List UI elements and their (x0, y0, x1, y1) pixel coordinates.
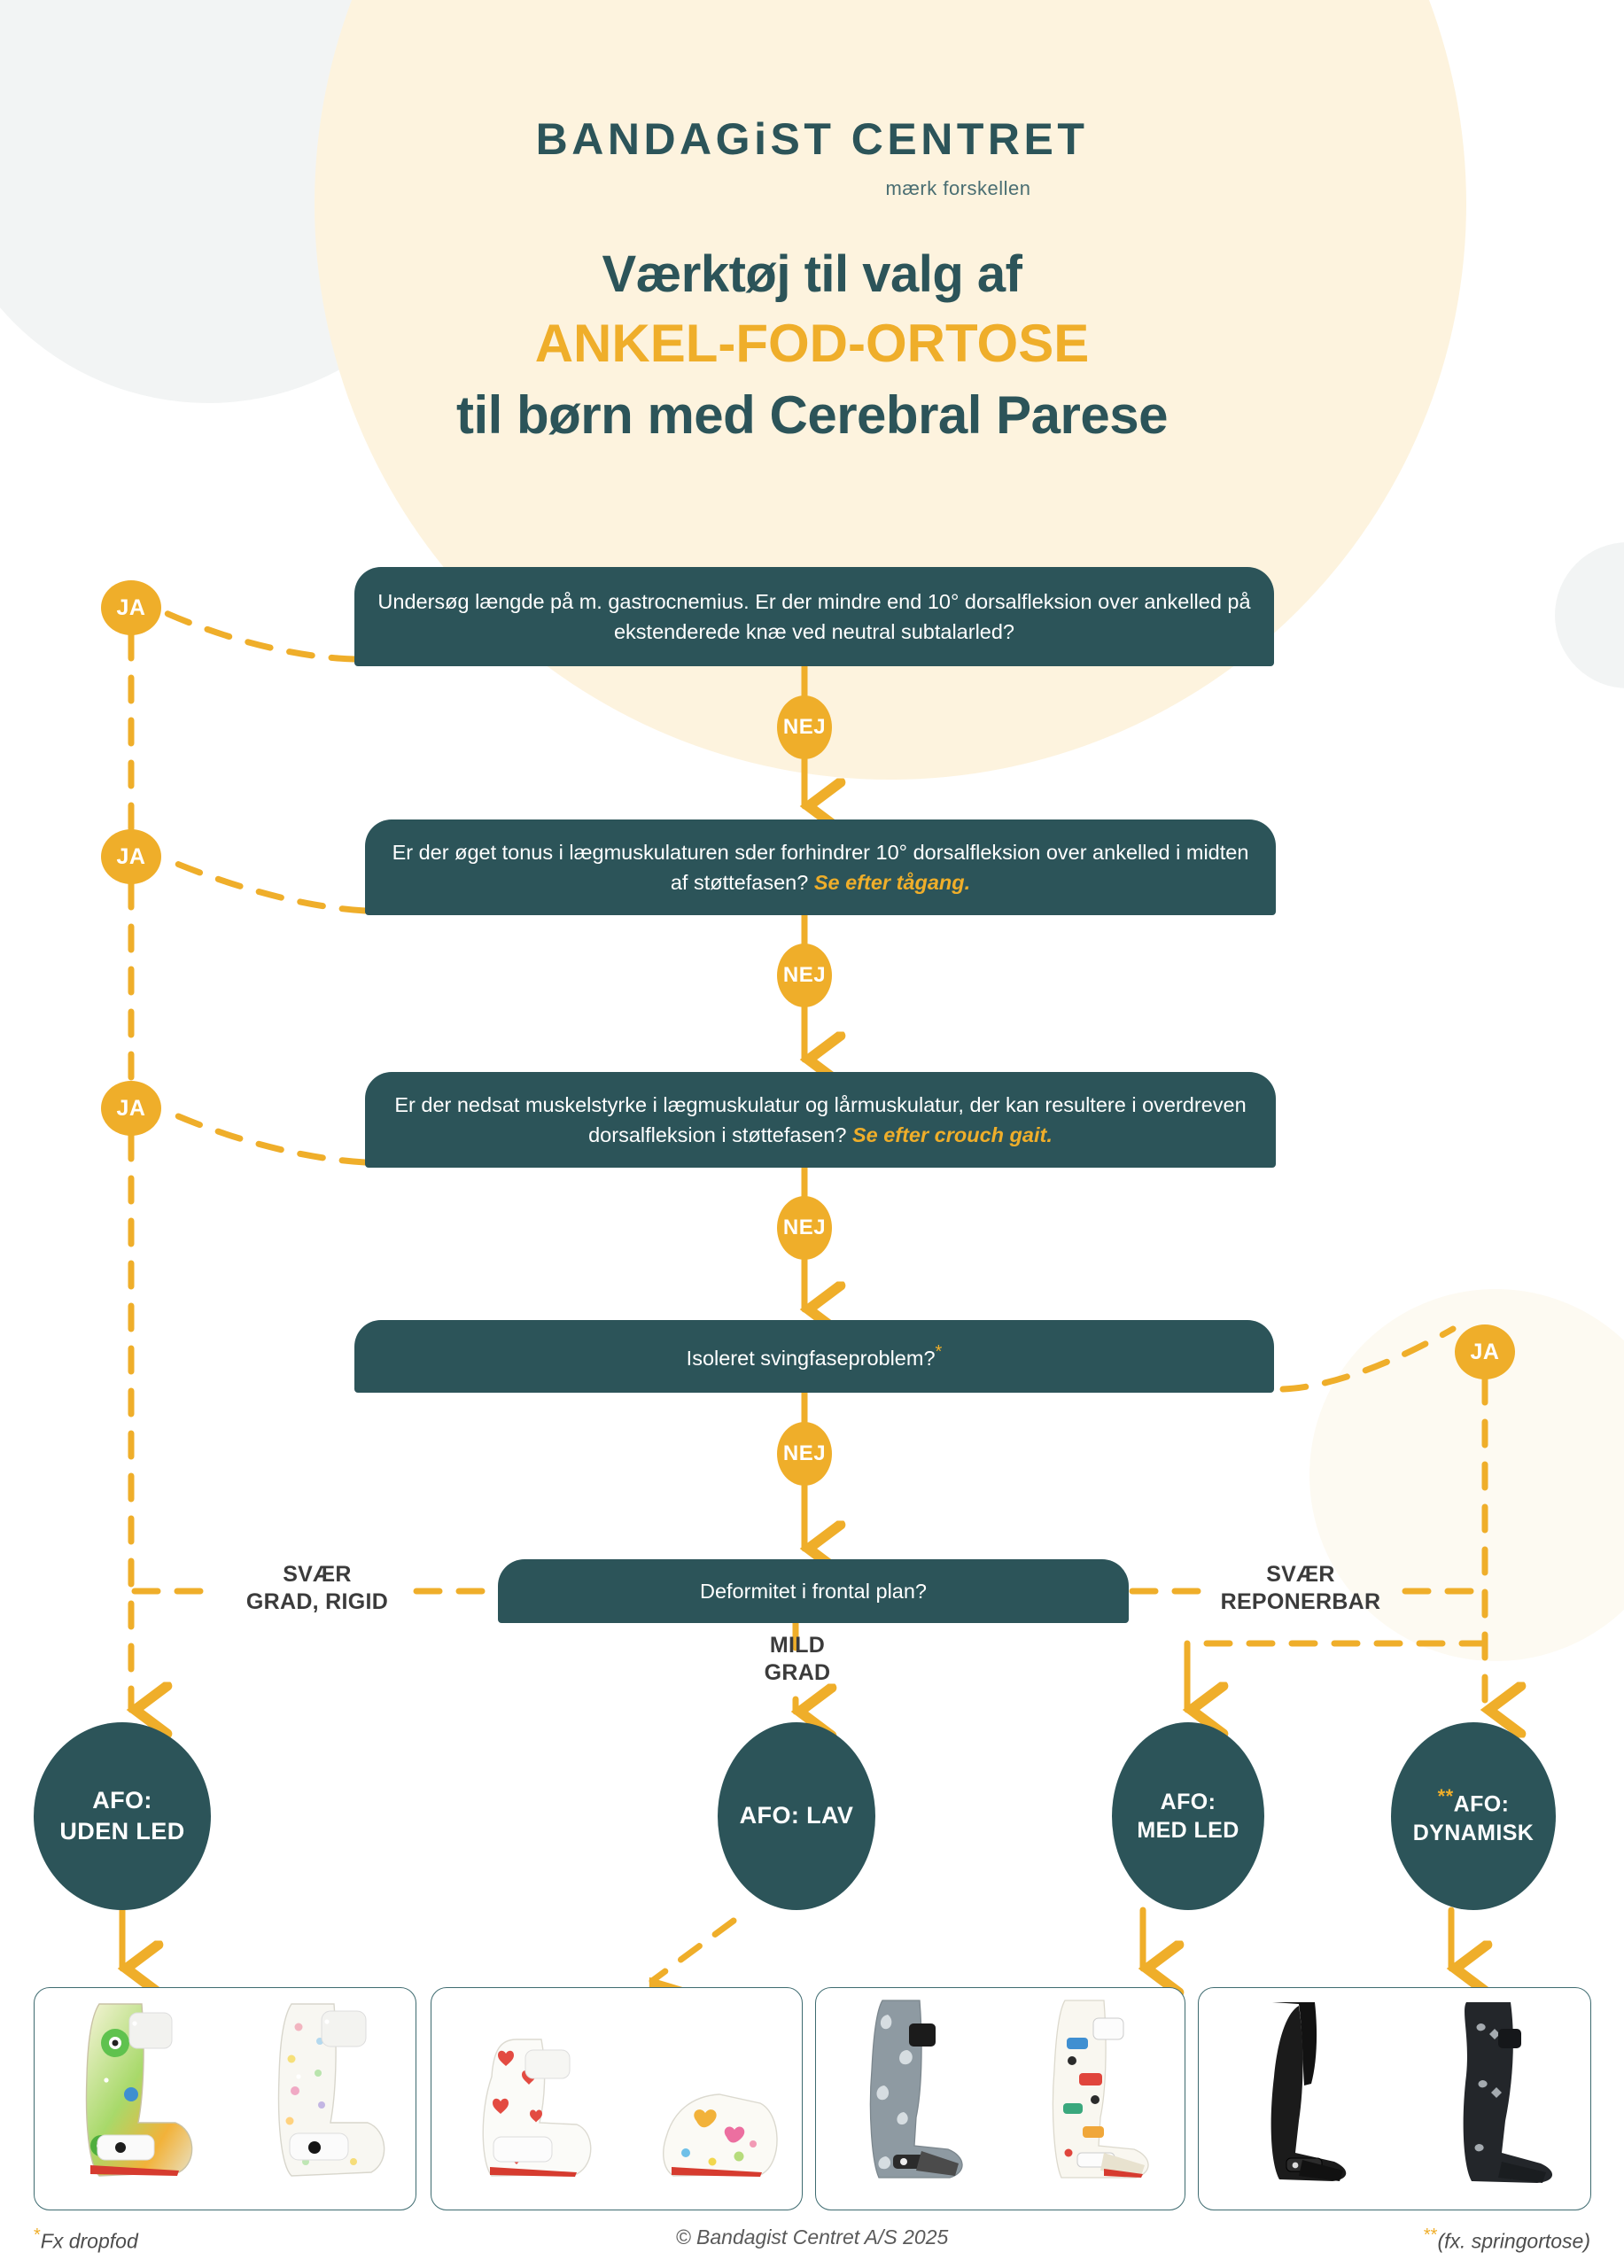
result-afo-lav-label: AFO: LAV (740, 1800, 854, 1831)
edge-label-svaer-reponerbar: SVÆR REPONERBAR (1203, 1561, 1398, 1617)
footnote-marker-single: * (936, 1342, 943, 1362)
branch-pill-ja-3: JA (101, 1081, 161, 1136)
brand-logo-part2: ST CENTRET (770, 114, 1088, 164)
brand-logo-part1: BANDAG (536, 114, 754, 164)
question-box-svingfase-main: Isoleret svingfaseproblem? (687, 1347, 936, 1370)
afo-low-red-hearts-image (442, 1988, 607, 2210)
infographic-page: BANDAGiST CENTRET mærk forskellen Værktø… (0, 0, 1624, 2268)
result-afo-lav: AFO: LAV (718, 1722, 875, 1910)
afo-dynamic-black-image (1210, 1988, 1384, 2210)
question-box-deformitet-text: Deformitet i frontal plan? (700, 1576, 927, 1606)
edge-label-svaer-grad-rigid: SVÆR GRAD, RIGID (229, 1561, 406, 1617)
question-box-svingfase-text: Isoleret svingfaseproblem?* (687, 1340, 943, 1373)
result-afo-med-led-line1: AFO: (1137, 1788, 1239, 1817)
branch-pill-nej-4: NEJ (777, 1422, 832, 1486)
afo-dynamic-black-skull-print-image (1406, 1988, 1580, 2210)
afo-orthosis-pastel-dots-image (237, 1988, 405, 2210)
edge-label-svaer-grad-rigid-line2: GRAD, RIGID (229, 1588, 406, 1616)
page-title-line-2: ANKEL-FOD-ORTOSE (0, 313, 1624, 374)
branch-pill-ja-2: JA (101, 829, 161, 884)
question-box-muskelstyrke-text: Er der nedsat muskelstyrke i lægmuskulat… (388, 1090, 1253, 1150)
footnote-right-marker: ** (1424, 2225, 1438, 2245)
result-afo-dynamisk: **AFO: DYNAMISK (1391, 1722, 1556, 1910)
edge-label-svaer-reponerbar-line1: SVÆR (1203, 1561, 1398, 1588)
question-box-tonus: Er der øget tonus i lægmuskulaturen sder… (365, 819, 1276, 915)
edge-label-svaer-reponerbar-line2: REPONERBAR (1203, 1588, 1398, 1616)
afo-low-butterfly-print-image (627, 1988, 792, 2210)
edge-label-mild-grad-line2: GRAD (749, 1659, 846, 1687)
footnote-right-text: (fx. springortose) (1437, 2230, 1590, 2253)
question-box-tonus-hint: Se efter tågang. (814, 871, 970, 894)
question-box-gastrocnemius: Undersøg længde på m. gastrocnemius. Er … (354, 567, 1274, 666)
branch-pill-nej-1: NEJ (777, 695, 832, 759)
branch-pill-nej-3: NEJ (777, 1196, 832, 1260)
result-afo-uden-led-line2: UDEN LED (59, 1816, 184, 1847)
product-box-afo-lav (431, 1987, 803, 2210)
result-afo-med-led-line2: MED LED (1137, 1816, 1239, 1845)
edge-label-mild-grad: MILD GRAD (749, 1632, 846, 1688)
afo-articulated-grey-camo-image (828, 1988, 989, 2210)
afo-orthosis-colorful-monsters-image (46, 1988, 214, 2210)
brand-logo: BANDAGiST CENTRET (0, 117, 1624, 161)
branch-pill-nej-2: NEJ (777, 944, 832, 1007)
afo-articulated-cars-print-image (1012, 1988, 1173, 2210)
footnote-right: **(fx. springortose) (1424, 2225, 1590, 2254)
question-box-svingfase: Isoleret svingfaseproblem?* (354, 1320, 1274, 1393)
question-box-tonus-text: Er der øget tonus i lægmuskulaturen sder… (388, 837, 1253, 897)
result-afo-uden-led: AFO: UDEN LED (34, 1722, 211, 1910)
branch-pill-ja-4: JA (1455, 1324, 1515, 1379)
page-title-line-1: Værktøj til valg af (0, 245, 1624, 304)
page-header: BANDAGiST CENTRET mærk forskellen Værktø… (0, 0, 1624, 446)
product-box-afo-uden-led (34, 1987, 416, 2210)
footnote-marker-double: ** (1438, 1785, 1454, 1807)
question-box-deformitet: Deformitet i frontal plan? (498, 1559, 1129, 1623)
edge-label-mild-grad-line1: MILD (749, 1632, 846, 1659)
brand-logo-dotted-i: i (754, 114, 770, 164)
question-box-gastrocnemius-text: Undersøg længde på m. gastrocnemius. Er … (377, 586, 1251, 647)
page-title-line-3: til børn med Cerebral Parese (0, 384, 1624, 446)
result-afo-uden-led-line1: AFO: (59, 1785, 184, 1816)
branch-pill-ja-1: JA (101, 580, 161, 635)
brand-tagline: mærk forskellen (292, 177, 1624, 200)
copyright-notice: © Bandagist Centret A/S 2025 (0, 2225, 1624, 2249)
result-afo-dynamisk-line1: **AFO: (1413, 1784, 1535, 1819)
question-box-muskelstyrke-hint: Se efter crouch gait. (852, 1123, 1053, 1146)
product-box-afo-med-led (815, 1987, 1185, 2210)
result-afo-dynamisk-line2: DYNAMISK (1413, 1819, 1535, 1848)
product-box-afo-dynamisk (1198, 1987, 1591, 2210)
question-box-muskelstyrke: Er der nedsat muskelstyrke i lægmuskulat… (365, 1072, 1276, 1168)
result-afo-med-led: AFO: MED LED (1112, 1722, 1264, 1910)
question-box-muskelstyrke-main: Er der nedsat muskelstyrke i lægmuskulat… (394, 1093, 1246, 1146)
edge-label-svaer-grad-rigid-line1: SVÆR (229, 1561, 406, 1588)
result-afo-dynamisk-afo: AFO: (1454, 1792, 1510, 1817)
